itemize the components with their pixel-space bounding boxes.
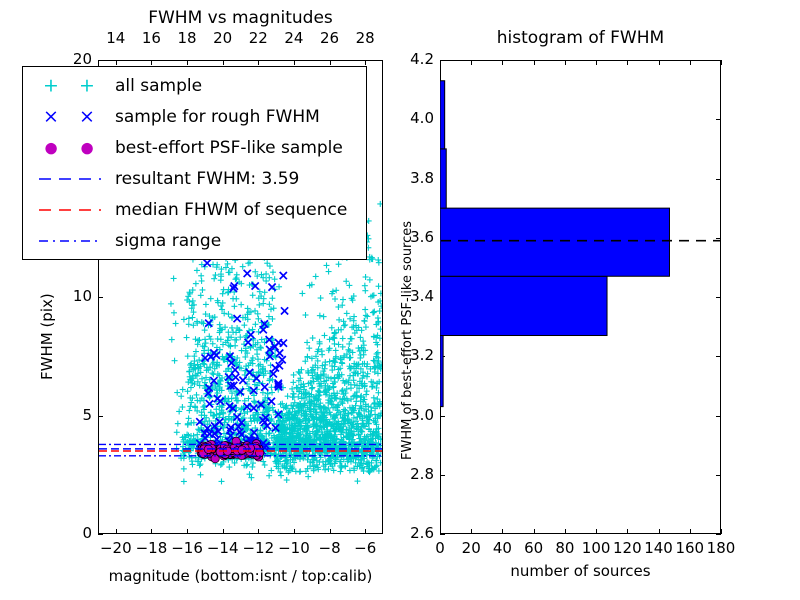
legend-marker-sample: ++	[29, 70, 115, 101]
dashdot-line-icon	[29, 225, 115, 256]
legend-label: all sample	[115, 76, 202, 96]
figure-canvas: FWHM vs magnitudes 1416182022242628 −20−…	[0, 0, 800, 600]
legend-label: resultant FWHM: 3.59	[115, 169, 299, 189]
legend-label: best-effort PSF-like sample	[115, 138, 343, 158]
circle-marker-icon: ●	[44, 140, 57, 155]
legend-marker-sample	[29, 225, 115, 256]
legend-marker-sample	[29, 163, 115, 194]
legend-item: median FHWM of sequence	[29, 194, 360, 225]
scatter-legend: ++all sample××sample for rough FWHM●●bes…	[22, 66, 367, 260]
circle-marker-icon: ●	[80, 140, 93, 155]
cross-marker-icon: ×	[79, 107, 95, 126]
legend-marker-sample: ××	[29, 101, 115, 132]
legend-item: sigma range	[29, 225, 360, 256]
cross-marker-icon: ×	[43, 107, 59, 126]
legend-label: sample for rough FWHM	[115, 107, 320, 127]
dashed-line-icon	[29, 163, 115, 194]
legend-marker-sample: ●●	[29, 132, 115, 163]
legend-item: resultant FWHM: 3.59	[29, 163, 360, 194]
plus-marker-icon: +	[79, 76, 95, 95]
legend-item: ●●best-effort PSF-like sample	[29, 132, 360, 163]
legend-label: median FHWM of sequence	[115, 200, 347, 220]
plus-marker-icon: +	[43, 76, 59, 95]
legend-item: ××sample for rough FWHM	[29, 101, 360, 132]
legend-item: ++all sample	[29, 70, 360, 101]
legend-label: sigma range	[115, 231, 221, 251]
dashed-line-icon	[29, 194, 115, 225]
legend-marker-sample	[29, 194, 115, 225]
